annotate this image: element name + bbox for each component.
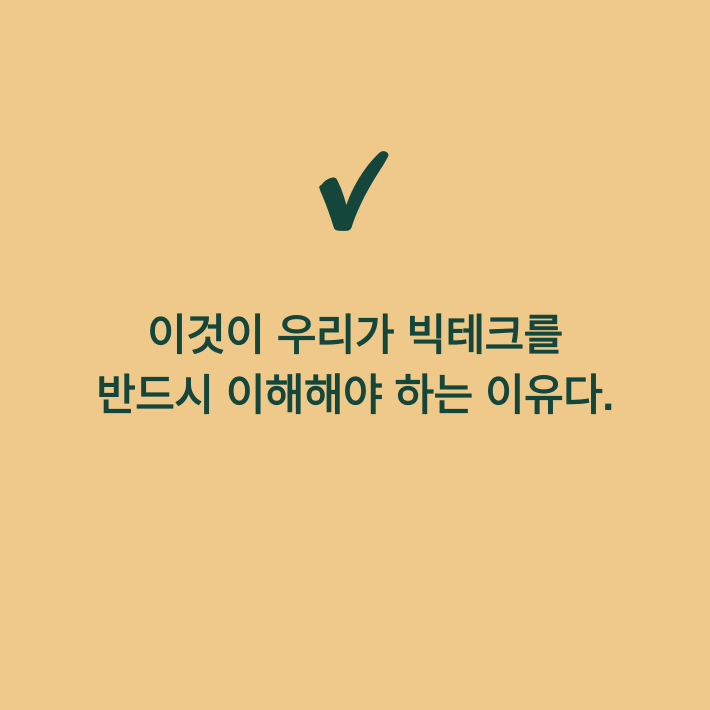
headline-line-2: 반드시 이해해야 하는 이유다.: [0, 366, 710, 426]
check-mark-container: [0, 148, 710, 234]
check-mark-icon: [319, 151, 391, 231]
headline: 이것이 우리가 빅테크를 반드시 이해해야 하는 이유다.: [0, 306, 710, 426]
promo-card: 이것이 우리가 빅테크를 반드시 이해해야 하는 이유다.: [0, 0, 710, 710]
headline-line-1: 이것이 우리가 빅테크를: [0, 306, 710, 366]
